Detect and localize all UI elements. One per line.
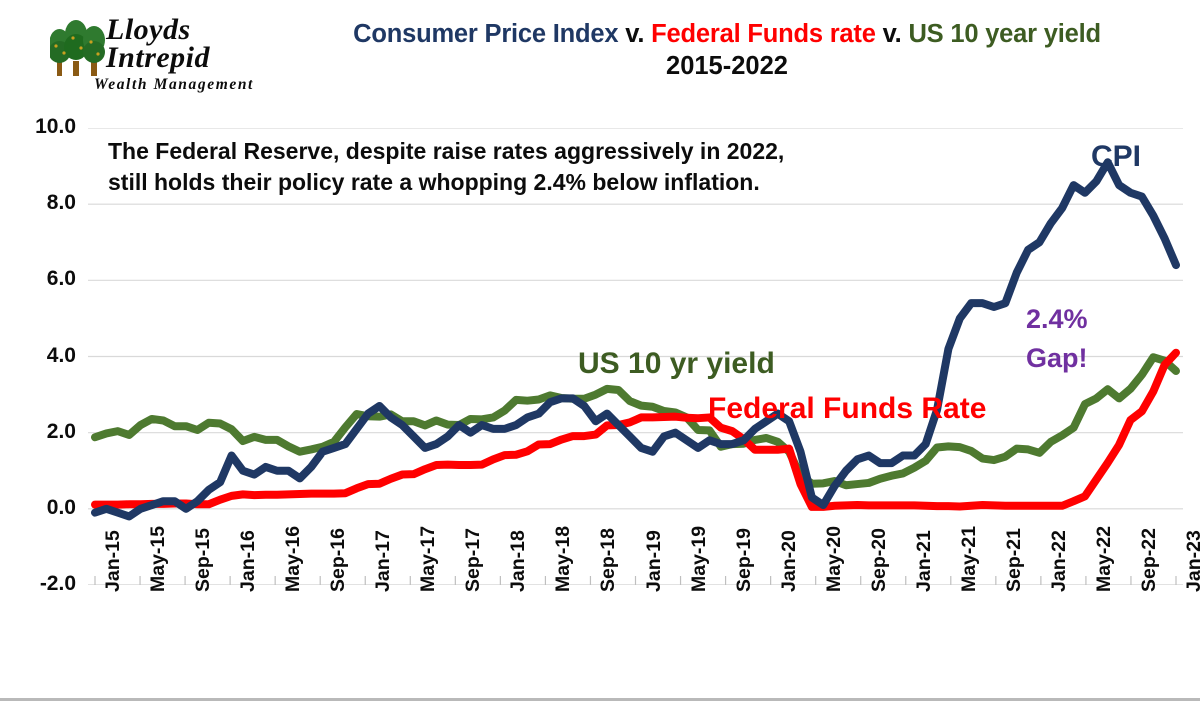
chart-title-block: Consumer Price Index v. Federal Funds ra… xyxy=(254,20,1200,84)
x-axis-label: May-21 xyxy=(958,526,981,592)
x-axis-label: Sep-17 xyxy=(462,528,485,592)
gap-word: Gap! xyxy=(1026,339,1088,378)
series-line-cpi xyxy=(95,162,1176,516)
x-axis-label: Jan-22 xyxy=(1048,530,1071,592)
gap-value: 2.4% xyxy=(1026,300,1088,339)
y-axis-label: 4.0 xyxy=(4,344,76,368)
y-axis-label: 6.0 xyxy=(4,267,76,291)
company-tagline: Wealth Management xyxy=(94,76,254,94)
x-axis-label: Sep-22 xyxy=(1138,528,1161,592)
x-axis-label: Sep-16 xyxy=(327,528,350,592)
gap-annotation: 2.4% Gap! xyxy=(1026,300,1088,378)
x-axis-label: Sep-19 xyxy=(733,528,756,592)
x-axis-label: May-19 xyxy=(688,526,711,592)
chart-header: Lloyds Intrepid Wealth Management Consum… xyxy=(0,0,1200,112)
title-part-cpi: Consumer Price Index xyxy=(353,20,618,48)
x-axis-label: Jan-18 xyxy=(507,530,530,592)
series-label-ten-year: US 10 yr yield xyxy=(578,347,775,381)
x-axis-label: Jan-16 xyxy=(237,530,260,592)
x-axis-label: May-18 xyxy=(552,526,575,592)
title-part-ten-year: US 10 year yield xyxy=(908,20,1100,48)
x-axis-label: Jan-19 xyxy=(643,530,666,592)
x-axis-label: May-16 xyxy=(282,526,305,592)
series-label-cpi: CPI xyxy=(1091,140,1141,174)
y-axis-label: -2.0 xyxy=(4,572,76,596)
x-axis-label: Jan-20 xyxy=(778,530,801,592)
x-axis-label: Jan-23 xyxy=(1183,530,1200,592)
title-part-fed-funds: Federal Funds rate xyxy=(651,20,876,48)
x-axis-label: Jan-21 xyxy=(913,530,936,592)
y-axis-label: 2.0 xyxy=(4,420,76,444)
chart-title: Consumer Price Index v. Federal Funds ra… xyxy=(254,20,1200,49)
annotation-line-1: The Federal Reserve, despite raise rates… xyxy=(108,136,784,167)
company-logo: Lloyds Intrepid Wealth Management xyxy=(44,16,260,100)
y-axis-label: 0.0 xyxy=(4,496,76,520)
x-axis-label: Sep-20 xyxy=(868,528,891,592)
x-axis-label: May-22 xyxy=(1093,526,1116,592)
x-axis-label: Jan-17 xyxy=(372,530,395,592)
x-axis-label: Sep-15 xyxy=(192,528,215,592)
x-axis-label: May-15 xyxy=(147,526,170,592)
chart-page: Lloyds Intrepid Wealth Management Consum… xyxy=(0,0,1200,701)
title-separator-2: v. xyxy=(876,20,909,48)
series-label-fed-funds: Federal Funds Rate xyxy=(708,392,986,426)
chart-subtitle: 2015-2022 xyxy=(254,49,1200,83)
x-axis-label: Sep-18 xyxy=(597,528,620,592)
chart-annotation: The Federal Reserve, despite raise rates… xyxy=(108,136,784,197)
annotation-line-2: still holds their policy rate a whopping… xyxy=(108,167,784,198)
title-separator-1: v. xyxy=(618,20,651,48)
x-axis-label: Jan-15 xyxy=(102,530,125,592)
y-axis-label: 10.0 xyxy=(4,115,76,139)
x-axis-label: May-20 xyxy=(823,526,846,592)
y-axis-label: 8.0 xyxy=(4,191,76,215)
x-axis-label: Sep-21 xyxy=(1003,528,1026,592)
trees-icon xyxy=(50,20,112,80)
x-axis-label: May-17 xyxy=(417,526,440,592)
